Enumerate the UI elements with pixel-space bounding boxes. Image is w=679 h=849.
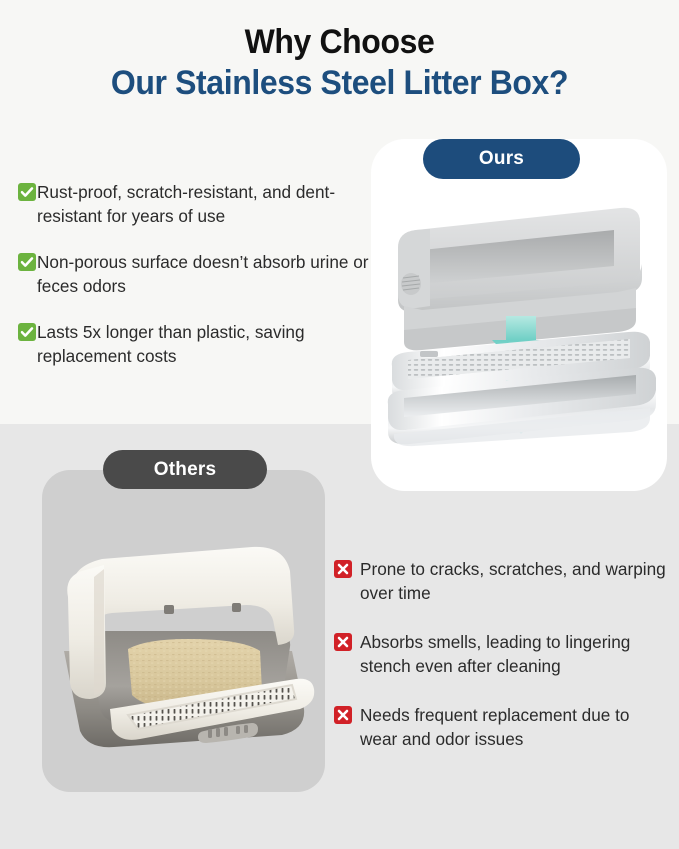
page-title-line1: Why Choose (20, 22, 658, 62)
badge-others: Others (103, 450, 267, 489)
hood-left-post (398, 229, 430, 308)
pros-list: Rust-proof, scratch-resistant, and dent-… (18, 180, 370, 390)
cross-icon (334, 560, 352, 578)
badge-others-label: Others (154, 459, 216, 481)
cons-item-text: Needs frequent replacement due to wear a… (360, 703, 670, 751)
cross-icon (334, 706, 352, 724)
page-title-line2: Our Stainless Steel Litter Box? (20, 62, 658, 104)
others-product-image (46, 533, 328, 765)
box-flank-shade (94, 569, 104, 695)
cons-item-text: Absorbs smells, leading to lingering ste… (360, 630, 670, 678)
plastic-litter-box-illustration (46, 533, 328, 765)
rim-notch (232, 603, 241, 612)
pros-item-text: Non-porous surface doesn’t absorb urine … (37, 250, 370, 298)
list-item: Non-porous surface doesn’t absorb urine … (18, 250, 370, 298)
check-icon (18, 253, 36, 271)
tray-tab (420, 351, 438, 357)
check-icon (18, 183, 36, 201)
stainless-litter-box-illustration (378, 188, 663, 448)
list-item: Lasts 5x longer than plastic, saving rep… (18, 320, 370, 368)
pros-item-text: Rust-proof, scratch-resistant, and dent-… (37, 180, 370, 228)
badge-ours: Ours (423, 139, 580, 179)
page-title: Why Choose Our Stainless Steel Litter Bo… (0, 22, 679, 104)
ours-product-image (378, 188, 663, 448)
cross-icon (334, 633, 352, 651)
list-item: Absorbs smells, leading to lingering ste… (334, 630, 670, 678)
check-icon (18, 323, 36, 341)
pros-item-text: Lasts 5x longer than plastic, saving rep… (37, 320, 370, 368)
list-item: Needs frequent replacement due to wear a… (334, 703, 670, 751)
list-item: Prone to cracks, scratches, and warping … (334, 557, 670, 605)
cons-item-text: Prone to cracks, scratches, and warping … (360, 557, 670, 605)
infographic-stage: Why Choose Our Stainless Steel Litter Bo… (0, 0, 679, 849)
badge-ours-label: Ours (479, 148, 524, 170)
list-item: Rust-proof, scratch-resistant, and dent-… (18, 180, 370, 228)
rim-notch (164, 605, 174, 614)
cons-list: Prone to cracks, scratches, and warping … (334, 557, 670, 776)
